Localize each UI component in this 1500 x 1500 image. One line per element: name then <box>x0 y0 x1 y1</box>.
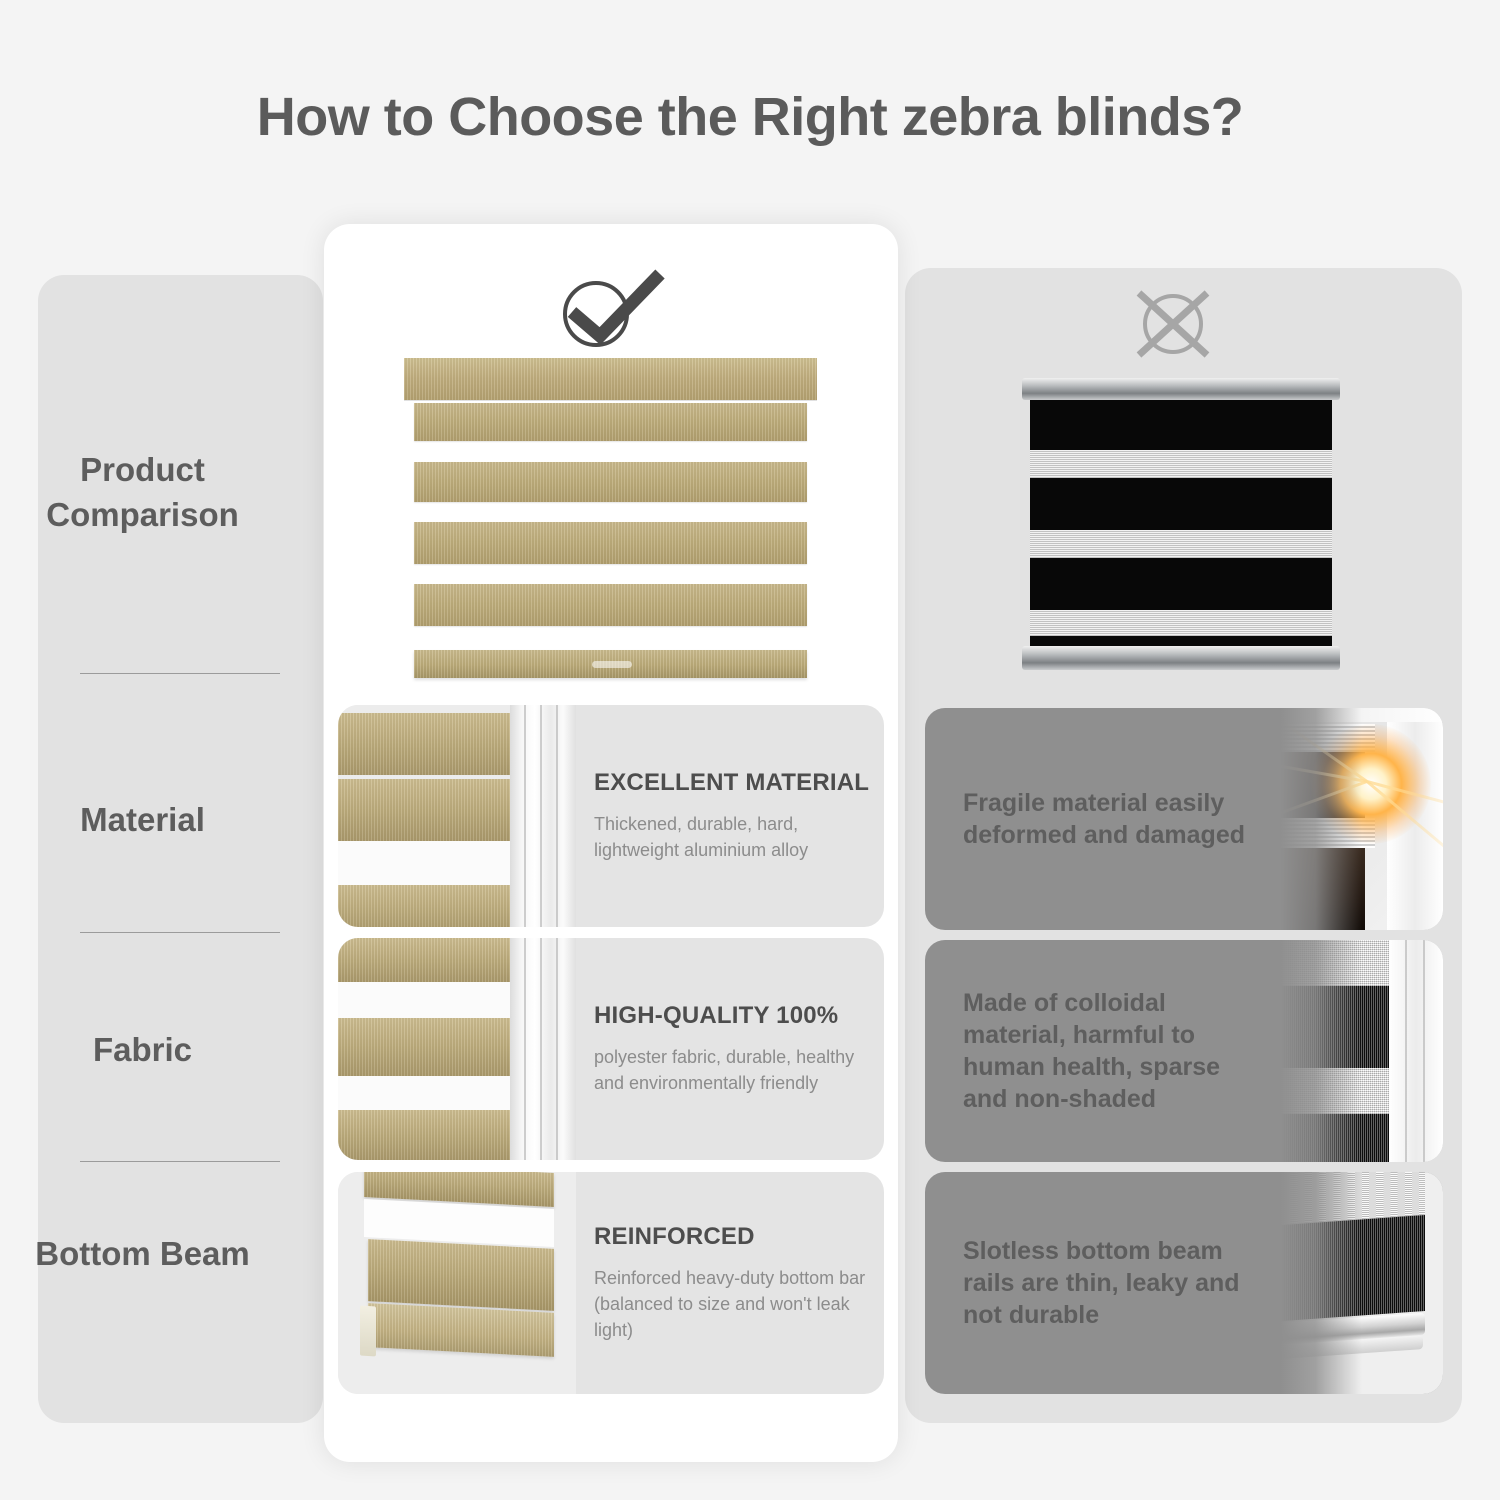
black-blind-bottom-rail <box>1022 646 1340 670</box>
tan-blind-band <box>414 522 807 564</box>
good-feature-bottom-beam-image <box>338 1172 576 1394</box>
good-feature-heading: REINFORCED <box>594 1223 872 1251</box>
tan-blind-band <box>414 462 807 502</box>
sidebar-item-material: Material <box>0 798 285 843</box>
tan-blind-band <box>414 584 807 626</box>
sidebar-item-label: Material <box>80 801 205 838</box>
good-feature-material: EXCELLENT MATERIAL Thickened, durable, h… <box>338 705 884 927</box>
bad-feature-fabric: Made of colloidal material, harmful to h… <box>925 940 1443 1162</box>
good-feature-body: Reinforced heavy-duty bottom bar (balanc… <box>594 1265 872 1343</box>
bad-hero-image <box>1022 378 1340 670</box>
good-feature-bottom-beam: REINFORCED Reinforced heavy-duty bottom … <box>338 1172 884 1394</box>
sidebar-item-label: Product Comparison <box>46 451 239 533</box>
good-feature-body: polyester fabric, durable, healthy and e… <box>594 1044 872 1096</box>
sidebar-item-fabric: Fabric <box>0 1028 285 1073</box>
tan-blind-headrail <box>404 358 817 400</box>
bad-feature-material: Fragile material easily deformed and dam… <box>925 708 1443 930</box>
sidebar-divider <box>80 932 280 933</box>
window-frame <box>510 705 576 927</box>
cross-circle-icon <box>1125 287 1221 361</box>
bad-feature-text: Slotless bottom beam rails are thin, lea… <box>963 1172 1263 1394</box>
bad-feature-text: Fragile material easily deformed and dam… <box>963 708 1263 930</box>
check-circle-icon <box>548 268 668 350</box>
sidebar-divider <box>80 673 280 674</box>
sidebar-item-bottom-beam: Bottom Beam <box>0 1232 285 1277</box>
good-hero-image <box>404 358 817 696</box>
good-feature-body: Thickened, durable, hard, lightweight al… <box>594 811 872 863</box>
sidebar-item-label: Bottom Beam <box>35 1235 250 1272</box>
sidebar-item-label: Fabric <box>93 1031 192 1068</box>
good-feature-heading: EXCELLENT MATERIAL <box>594 769 872 797</box>
black-blind-body <box>1030 400 1332 646</box>
bottom-beam-end-cap <box>360 1306 376 1357</box>
sidebar-divider <box>80 1161 280 1162</box>
black-blind-headrail <box>1022 378 1340 400</box>
good-feature-material-image <box>338 705 576 927</box>
good-feature-heading: HIGH-QUALITY 100% <box>594 1002 872 1030</box>
tan-blind-pull-tab <box>592 661 632 668</box>
tan-blind-bottom-bar <box>414 650 807 678</box>
sidebar-item-product-comparison: Product Comparison <box>0 448 285 537</box>
good-feature-fabric: HIGH-QUALITY 100% polyester fabric, dura… <box>338 938 884 1160</box>
page-title: How to Choose the Right zebra blinds? <box>0 86 1500 148</box>
bad-feature-text: Made of colloidal material, harmful to h… <box>963 940 1263 1162</box>
good-feature-fabric-image <box>338 938 576 1160</box>
bad-feature-bottom-beam: Slotless bottom beam rails are thin, lea… <box>925 1172 1443 1394</box>
window-frame <box>510 938 576 1160</box>
tan-blind-band <box>414 403 807 441</box>
